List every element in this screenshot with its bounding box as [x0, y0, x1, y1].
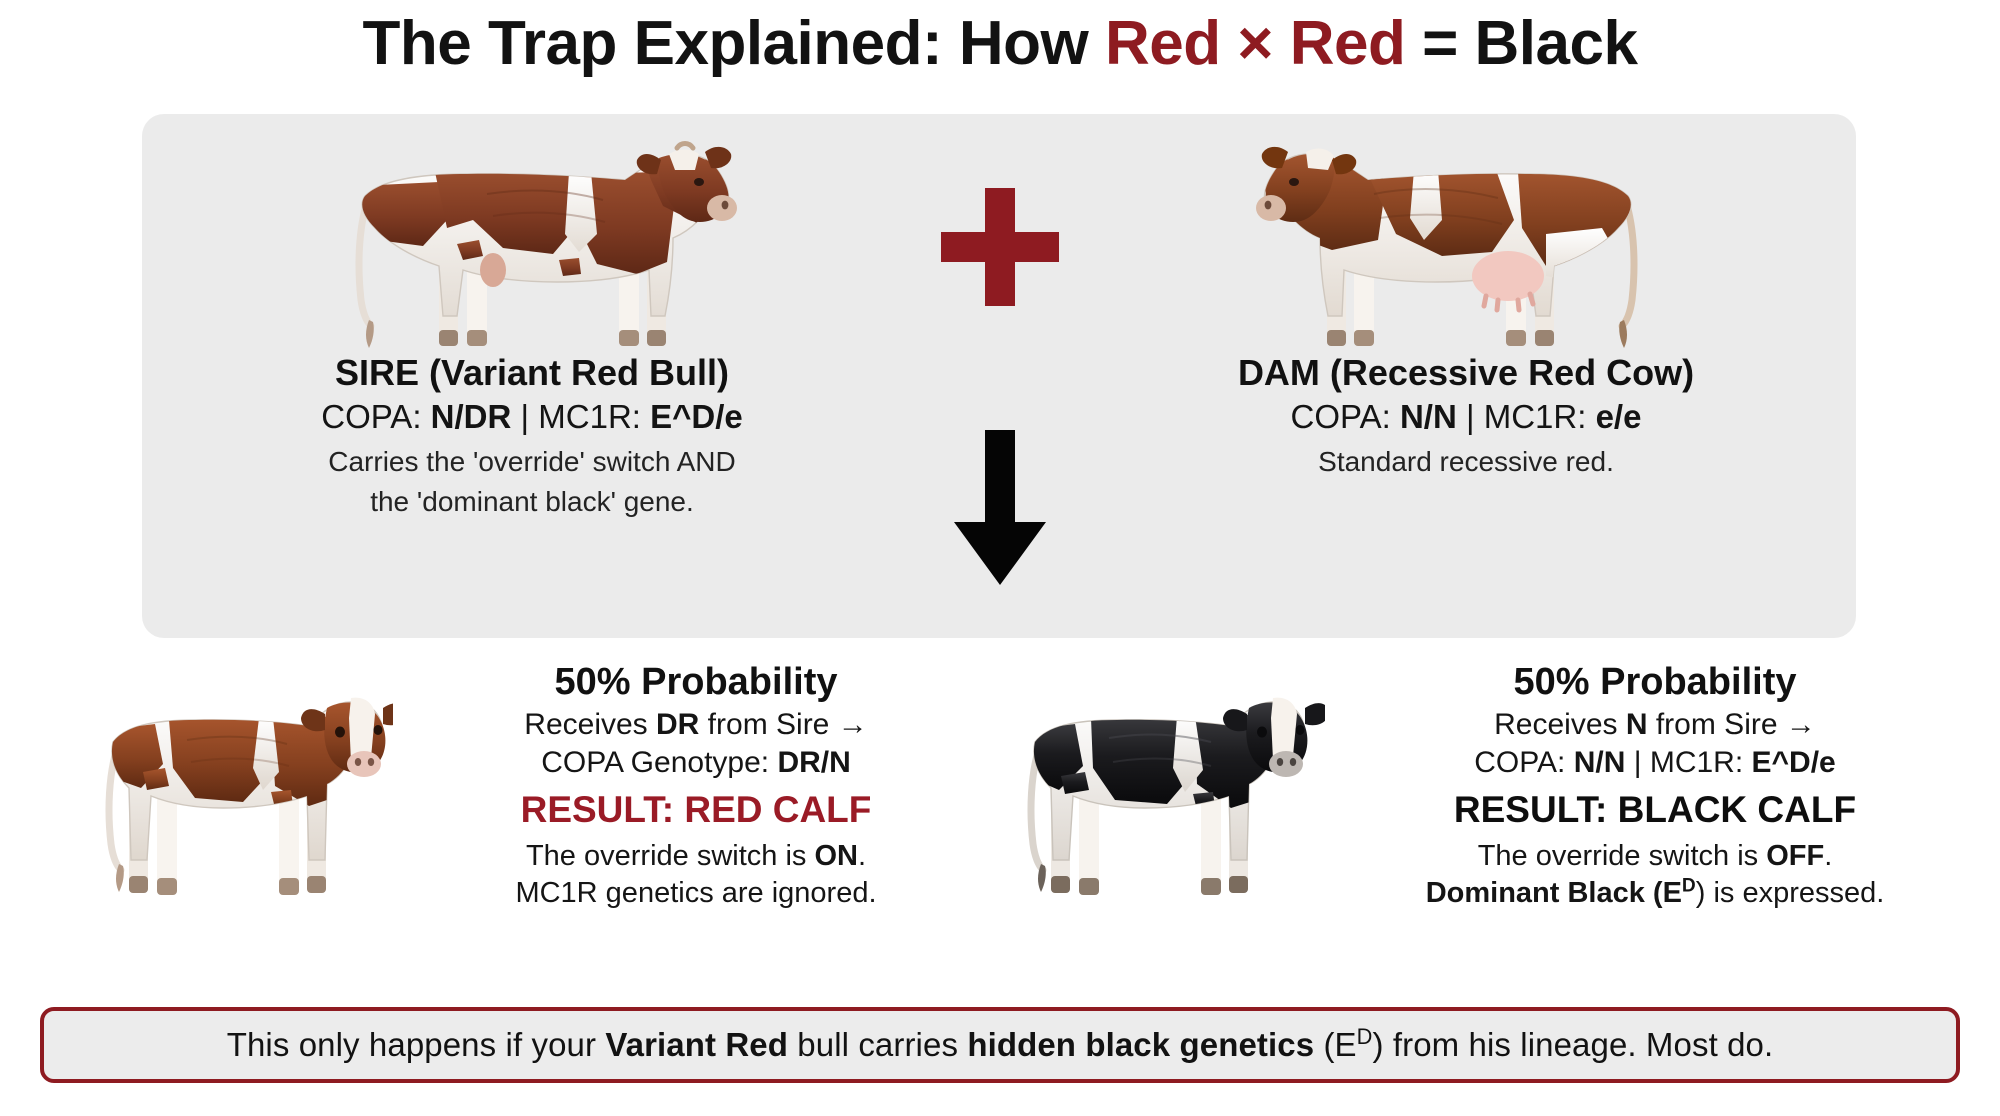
plus-icon [935, 182, 1065, 312]
black-calf-inheritance: Receives N from Sire → [1350, 706, 1960, 744]
sire-mc1r-value: E^D/e [650, 398, 743, 435]
dam-name: DAM (Recessive Red Cow) [1116, 352, 1816, 394]
footer-superscript: D [1357, 1024, 1373, 1049]
page-title: The Trap Explained: How Red × Red = Blac… [0, 8, 2000, 79]
black-calf-foot2-superscript: D [1682, 875, 1696, 896]
black-calf-mc1r-label: MC1R: [1650, 746, 1752, 779]
black-calf-copa-label: COPA: [1474, 746, 1573, 779]
sire-illustration [182, 118, 882, 364]
red-calf-foot-prefix: The override switch is [526, 840, 815, 872]
black-calf-inherit-prefix: Receives [1494, 708, 1626, 741]
dam-copa-label: COPA: [1291, 398, 1400, 435]
dam-mc1r-label: MC1R: [1484, 398, 1596, 435]
title-accent: Red × Red [1105, 9, 1405, 78]
sire-note-line-2: the 'dominant black' gene. [182, 484, 882, 519]
red-calf-genotype-label: COPA Genotype: [541, 746, 777, 779]
bull-icon [307, 124, 757, 364]
sire-genotype: COPA: N/DR | MC1R: E^D/e [182, 396, 882, 439]
footer-bold-variant-red: Variant Red [605, 1026, 788, 1063]
black-calf-foot2-paren-close: ) is expressed. [1696, 877, 1885, 909]
sire-copa-label: COPA: [321, 398, 430, 435]
red-calf-text-block: 50% Probability Receives DR from Sire → … [416, 660, 976, 912]
dam-genotype: COPA: N/N | MC1R: e/e [1116, 396, 1816, 439]
red-calf-foot-line-1: The override switch is ON. [416, 838, 976, 875]
dam-column: DAM (Recessive Red Cow) COPA: N/N | MC1R… [1116, 114, 1816, 638]
footer-banner: This only happens if your Variant Red bu… [40, 1007, 1960, 1083]
red-calf-foot-bold: ON [814, 840, 858, 872]
black-calf-result: RESULT: BLACK CALF [1350, 782, 1960, 838]
red-calf-genotype: COPA Genotype: DR/N [416, 744, 976, 782]
black-calf-mc1r-value: E^D/e [1752, 746, 1836, 779]
dam-text-block: DAM (Recessive Red Cow) COPA: N/N | MC1R… [1116, 352, 1816, 479]
cow-icon [1246, 124, 1686, 364]
sire-column: SIRE (Variant Red Bull) COPA: N/DR | MC1… [182, 114, 882, 638]
dam-genotype-separator: | [1457, 398, 1484, 435]
red-calf-illustration [78, 654, 398, 964]
footer-text: This only happens if your Variant Red bu… [227, 1026, 1774, 1064]
black-calf-foot-prefix: The override switch is [1478, 840, 1767, 872]
black-calf-copa-value: N/N [1574, 746, 1626, 779]
black-calf-foot-bold: OFF [1766, 840, 1824, 872]
sire-mc1r-label: MC1R: [538, 398, 650, 435]
black-calf-foot-line-1: The override switch is OFF. [1350, 838, 1960, 875]
title-part-1: The Trap Explained: How [363, 9, 1105, 78]
black-calf-illustration [1000, 654, 1330, 964]
black-calf-genotype: COPA: N/N | MC1R: E^D/e [1350, 744, 1960, 782]
black-calf-inherit-allele: N [1626, 708, 1648, 741]
red-calf-probability: 50% Probability [416, 660, 976, 706]
black-calf-foot2-bold: Dominant Black [1426, 877, 1645, 909]
black-calf-foot-suffix: . [1824, 840, 1832, 872]
footer-part-4: ) from his lineage. Most do. [1372, 1026, 1773, 1063]
footer-part-2: bull carries [788, 1026, 967, 1063]
black-calf-icon [1005, 664, 1325, 964]
sire-copa-value: N/DR [431, 398, 512, 435]
red-calf-inherit-prefix: Receives [524, 708, 656, 741]
dam-illustration [1116, 118, 1816, 364]
sire-genotype-separator: | [511, 398, 538, 435]
offspring-red-calf: 50% Probability Receives DR from Sire → … [78, 654, 978, 984]
black-calf-foot2-paren-open: (E [1645, 877, 1682, 909]
black-calf-probability: 50% Probability [1350, 660, 1960, 706]
black-calf-foot-line-2: Dominant Black (ED) is expressed. [1350, 875, 1960, 912]
footer-part-3: (E [1314, 1026, 1356, 1063]
red-calf-genotype-value: DR/N [777, 746, 850, 779]
red-calf-inherit-allele: DR [656, 708, 699, 741]
footer-part-1: This only happens if your [227, 1026, 606, 1063]
sire-name: SIRE (Variant Red Bull) [182, 352, 882, 394]
red-calf-result: RESULT: RED CALF [416, 782, 976, 838]
title-part-2: = Black [1405, 9, 1637, 78]
red-calf-foot-line-2: MC1R genetics are ignored. [416, 875, 976, 912]
sire-text-block: SIRE (Variant Red Bull) COPA: N/DR | MC1… [182, 352, 882, 519]
red-calf-icon [83, 664, 393, 964]
infographic-page: The Trap Explained: How Red × Red = Blac… [0, 0, 2000, 1116]
black-calf-text-block: 50% Probability Receives N from Sire → C… [1350, 660, 1960, 912]
dam-copa-value: N/N [1400, 398, 1457, 435]
down-arrow-icon [952, 430, 1048, 585]
black-calf-inherit-suffix: from Sire → [1648, 708, 1816, 741]
black-calf-genotype-separator: | [1625, 746, 1649, 779]
dam-mc1r-value: e/e [1596, 398, 1642, 435]
red-calf-foot-suffix: . [858, 840, 866, 872]
red-calf-inheritance: Receives DR from Sire → [416, 706, 976, 744]
dam-note-line-1: Standard recessive red. [1116, 444, 1816, 479]
offspring-black-calf: 50% Probability Receives N from Sire → C… [1000, 654, 1960, 984]
sire-note-line-1: Carries the 'override' switch AND [182, 444, 882, 479]
red-calf-inherit-suffix: from Sire → [699, 708, 867, 741]
footer-bold-hidden-black-genetics: hidden black genetics [967, 1026, 1314, 1063]
